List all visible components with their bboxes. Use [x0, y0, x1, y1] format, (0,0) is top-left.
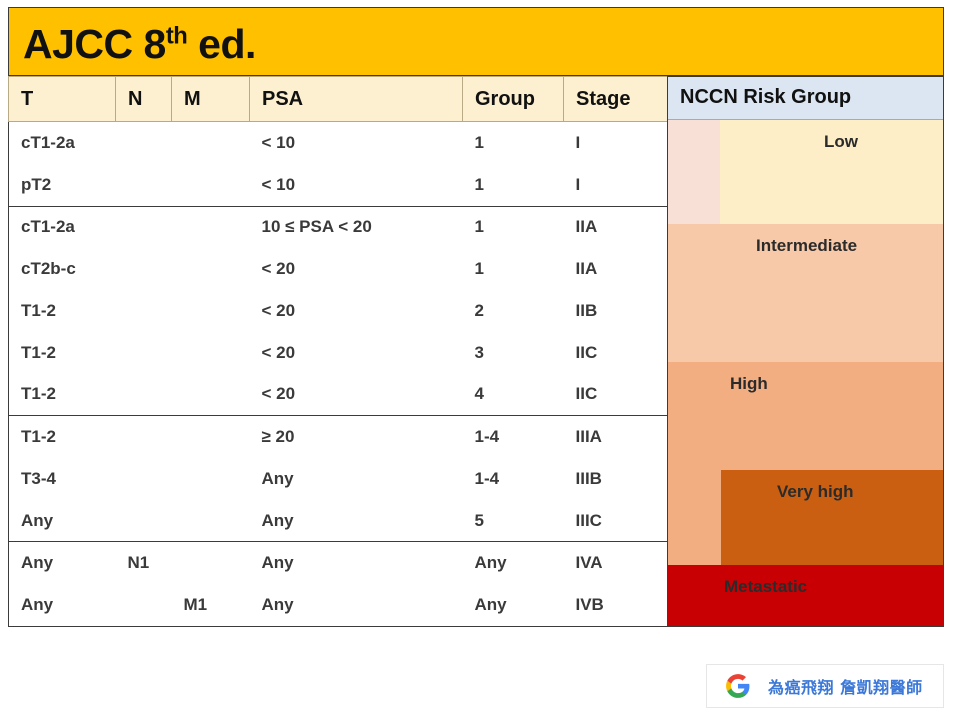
cell-t: cT2b-c	[9, 248, 116, 290]
table-row: cT2b-c< 201IIA	[9, 248, 668, 290]
cell-m	[172, 290, 250, 332]
table-row: T3-4Any1-4IIIB	[9, 458, 668, 500]
cell-m	[172, 248, 250, 290]
table-row: cT1-2a< 101I	[9, 122, 668, 164]
cell-group: 1	[463, 206, 564, 248]
cell-m	[172, 373, 250, 415]
cell-n: N1	[116, 542, 172, 584]
cell-psa: < 20	[250, 332, 463, 374]
cell-n	[116, 458, 172, 500]
cell-group: Any	[463, 584, 564, 626]
table-row: AnyN1AnyAnyIVA	[9, 542, 668, 584]
cell-stage: IIIB	[564, 458, 668, 500]
table-row: AnyM1AnyAnyIVB	[9, 584, 668, 626]
cell-psa: 10 ≤ PSA < 20	[250, 206, 463, 248]
cell-psa: Any	[250, 584, 463, 626]
table-header-row: T N M PSA Group Stage	[9, 77, 668, 122]
cell-m	[172, 332, 250, 374]
slide-canvas: 放射腫瘤科 詹凱翔醫師 AJCC 8th ed. T N M PSA Group…	[0, 0, 960, 720]
cell-t: T1-2	[9, 373, 116, 415]
cell-m	[172, 500, 250, 542]
cell-m	[172, 164, 250, 206]
cell-group: 4	[463, 373, 564, 415]
cell-t: T3-4	[9, 458, 116, 500]
cell-stage: IVB	[564, 584, 668, 626]
column-header-n: N	[116, 77, 172, 122]
risk-label-low: Low	[824, 132, 858, 152]
cell-t: cT1-2a	[9, 206, 116, 248]
cell-t: T1-2	[9, 332, 116, 374]
cell-group: 3	[463, 332, 564, 374]
column-header-stage: Stage	[564, 77, 668, 122]
cell-t: Any	[9, 500, 116, 542]
cell-stage: IIIA	[564, 416, 668, 458]
cell-m	[172, 416, 250, 458]
title-superscript: th	[166, 22, 187, 49]
cell-stage: IIC	[564, 373, 668, 415]
page-title: AJCC 8th ed.	[23, 21, 256, 68]
cell-m	[172, 206, 250, 248]
risk-label-metastatic: Metastatic	[724, 577, 807, 597]
cell-stage: IIA	[564, 248, 668, 290]
table-row: cT1-2a10 ≤ PSA < 201IIA	[9, 206, 668, 248]
cell-group: 5	[463, 500, 564, 542]
cell-group: 1	[463, 122, 564, 164]
cell-stage: IVA	[564, 542, 668, 584]
cell-group: 1	[463, 164, 564, 206]
risk-label-high: High	[730, 374, 768, 394]
cell-n	[116, 290, 172, 332]
column-header-t: T	[9, 77, 116, 122]
cell-m	[172, 542, 250, 584]
cell-psa: < 20	[250, 290, 463, 332]
staging-data-table: T N M PSA Group Stage cT1-2a< 101IpT2< 1…	[8, 76, 668, 627]
title-tail: ed.	[187, 21, 256, 67]
cell-group: 2	[463, 290, 564, 332]
cell-t: pT2	[9, 164, 116, 206]
cell-psa: Any	[250, 458, 463, 500]
cell-t: T1-2	[9, 416, 116, 458]
cell-stage: IIB	[564, 290, 668, 332]
risk-label-very-high: Very high	[777, 482, 854, 502]
cell-t: Any	[9, 542, 116, 584]
cell-n	[116, 584, 172, 626]
table-row: T1-2< 202IIB	[9, 290, 668, 332]
table-row: T1-2< 203IIC	[9, 332, 668, 374]
footer-brand-badge[interactable]: 為癌飛翔 詹凱翔醫師	[706, 664, 944, 708]
title-bar: AJCC 8th ed.	[8, 7, 944, 76]
cell-m	[172, 458, 250, 500]
cell-n	[116, 122, 172, 164]
cell-psa: < 10	[250, 164, 463, 206]
cell-t: cT1-2a	[9, 122, 116, 164]
cell-n	[116, 164, 172, 206]
cell-t: T1-2	[9, 290, 116, 332]
cell-n	[116, 332, 172, 374]
table-row: AnyAny5IIIC	[9, 500, 668, 542]
cell-psa: < 20	[250, 248, 463, 290]
cell-group: 1-4	[463, 416, 564, 458]
cell-psa: ≥ 20	[250, 416, 463, 458]
cell-stage: IIC	[564, 332, 668, 374]
cell-n	[116, 416, 172, 458]
google-g-icon	[725, 673, 751, 699]
cell-psa: Any	[250, 500, 463, 542]
cell-t: Any	[9, 584, 116, 626]
cell-psa: < 10	[250, 122, 463, 164]
cell-stage: IIIC	[564, 500, 668, 542]
nccn-column-header: NCCN Risk Group	[668, 77, 943, 120]
cell-stage: I	[564, 122, 668, 164]
column-header-psa: PSA	[250, 77, 463, 122]
column-header-group: Group	[463, 77, 564, 122]
cell-stage: I	[564, 164, 668, 206]
cell-n	[116, 248, 172, 290]
cell-m	[172, 122, 250, 164]
staging-table-body: cT1-2a< 101IpT2< 101IcT1-2a10 ≤ PSA < 20…	[9, 122, 668, 627]
table-row: T1-2≥ 201-4IIIA	[9, 416, 668, 458]
column-header-m: M	[172, 77, 250, 122]
cell-psa: Any	[250, 542, 463, 584]
cell-group: 1	[463, 248, 564, 290]
nccn-risk-group-column: NCCN Risk Group IntermediateHighVery low…	[667, 76, 944, 627]
footer-brand-text: 為癌飛翔 詹凱翔醫師	[768, 674, 923, 698]
table-row: T1-2< 204IIC	[9, 373, 668, 415]
cell-psa: < 20	[250, 373, 463, 415]
title-main: AJCC 8	[23, 21, 166, 67]
table-row: pT2< 101I	[9, 164, 668, 206]
risk-label-intermediate: Intermediate	[756, 236, 857, 256]
ajcc-staging-table: AJCC 8th ed. T N M PSA Group Stage cT1-2…	[8, 7, 944, 627]
cell-stage: IIA	[564, 206, 668, 248]
cell-m: M1	[172, 584, 250, 626]
cell-group: 1-4	[463, 458, 564, 500]
cell-n	[116, 500, 172, 542]
cell-n	[116, 206, 172, 248]
cell-group: Any	[463, 542, 564, 584]
nccn-column-header-label: NCCN Risk Group	[680, 86, 851, 109]
cell-n	[116, 373, 172, 415]
